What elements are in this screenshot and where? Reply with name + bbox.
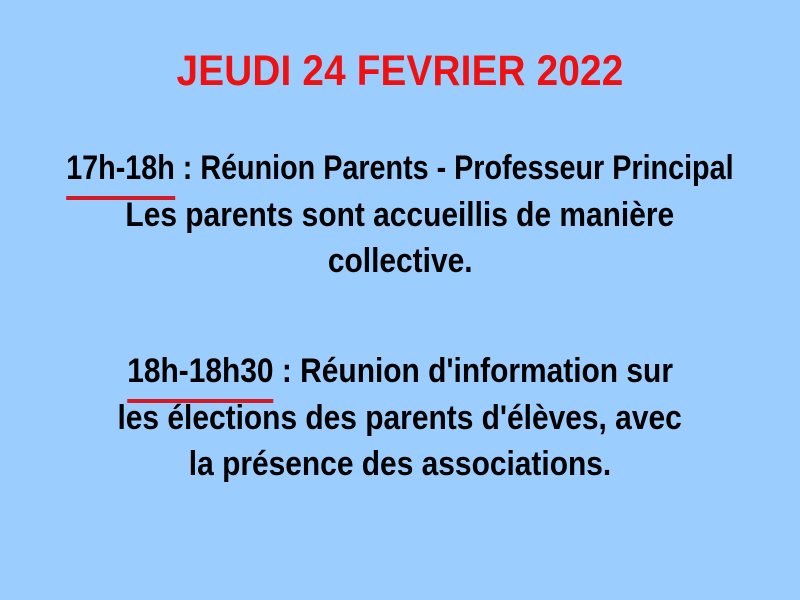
schedule-heading-line: 18h-18h30 : Réunion d'information sur xyxy=(0,348,800,395)
schedule-block-two: 18h-18h30 : Réunion d'information sur le… xyxy=(0,348,800,487)
slide-canvas: JEUDI 24 FEVRIER 2022 17h-18h : Réunion … xyxy=(0,0,800,600)
heading-text: Réunion Parents - Professeur Principal xyxy=(200,149,733,187)
heading-text: Réunion d'information sur xyxy=(300,352,673,390)
page-title: JEUDI 24 FEVRIER 2022 xyxy=(40,46,760,96)
schedule-detail-text: Les parents sont accueillis de manière xyxy=(126,192,675,238)
schedule-detail-text: collective. xyxy=(328,238,473,284)
time-range-badge: 18h-18h30 xyxy=(127,348,273,395)
schedule-detail-text: les élections des parents d'élèves, avec xyxy=(118,395,682,441)
heading-separator: : xyxy=(273,352,300,390)
schedule-detail-line: collective. xyxy=(0,238,800,284)
schedule-detail-line: la présence des associations. xyxy=(0,441,800,487)
schedule-detail-line: les élections des parents d'élèves, avec xyxy=(0,395,800,441)
schedule-block-one: 17h-18h : Réunion Parents - Professeur P… xyxy=(0,145,800,284)
schedule-heading-line: 17h-18h : Réunion Parents - Professeur P… xyxy=(0,145,800,192)
heading-separator: : xyxy=(175,149,201,187)
schedule-detail-text: la présence des associations. xyxy=(189,441,611,487)
time-range-badge: 17h-18h xyxy=(66,145,175,192)
